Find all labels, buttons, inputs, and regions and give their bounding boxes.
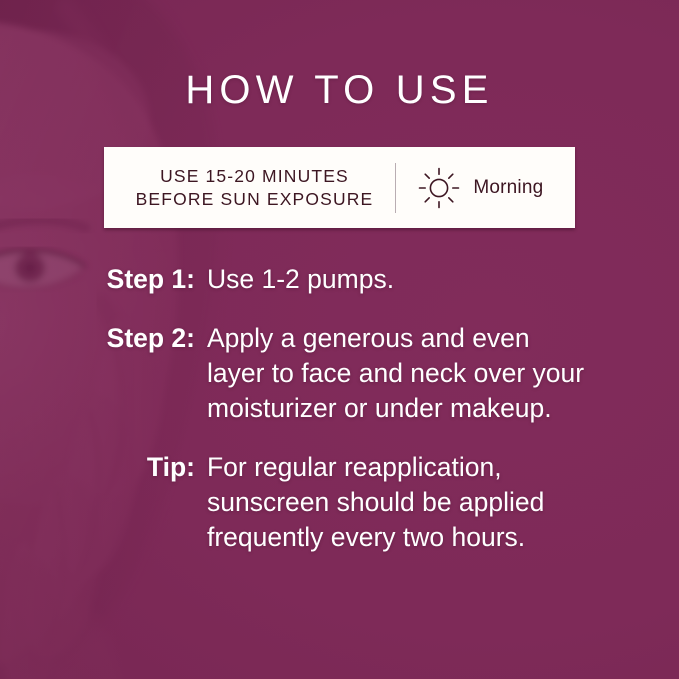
step-text: Apply a generous and even layer to face … [195,321,587,426]
step-row: Step 1: Use 1-2 pumps. [0,262,679,297]
step-label: Step 2: [0,321,195,356]
step-row: Step 2: Apply a generous and even layer … [0,321,679,426]
step-text: Use 1-2 pumps. [195,262,587,297]
time-of-day-label: Morning [473,177,543,199]
sun-icon [418,167,460,209]
step-label: Step 1: [0,262,195,297]
timing-instruction-line-2: BEFORE SUN EXPOSURE [136,188,374,211]
usage-timing-callout: USE 15-20 MINUTES BEFORE SUN EXPOSURE [104,147,575,228]
timing-instruction-line-1: USE 15-20 MINUTES [136,165,374,188]
tip-text: For regular reapplication, sunscreen sho… [195,450,587,555]
tip-label: Tip: [0,450,195,485]
callout-inner: USE 15-20 MINUTES BEFORE SUN EXPOSURE [104,147,575,228]
time-of-day-group: Morning [396,167,543,209]
page-title: HOW TO USE [0,68,679,112]
how-to-use-panel: HOW TO USE USE 15-20 MINUTES BEFORE SUN … [0,0,679,679]
steps-list: Step 1: Use 1-2 pumps. Step 2: Apply a g… [0,262,679,555]
tip-row: Tip: For regular reapplication, sunscree… [0,450,679,555]
timing-instruction: USE 15-20 MINUTES BEFORE SUN EXPOSURE [136,165,396,211]
